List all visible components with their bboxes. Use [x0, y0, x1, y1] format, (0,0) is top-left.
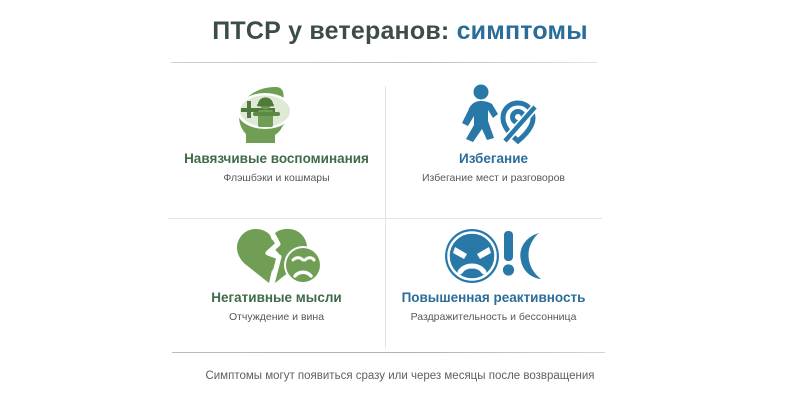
title-accent: симптомы	[457, 17, 588, 45]
quadrant-subtitle: Избегание мест и разговоров	[422, 171, 565, 186]
angry-face-exclamation-moon-icon	[442, 225, 546, 287]
footer-divider	[172, 352, 605, 353]
quadrant-subtitle: Отчуждение и вина	[229, 310, 324, 325]
quadrant-negative-thoughts[interactable]: Негативные мысли Отчуждение и вина	[168, 219, 385, 355]
symptom-grid: Навязчивые воспоминания Флэшбэки и кошма…	[168, 76, 602, 348]
title-divider	[171, 62, 597, 63]
page-title: ПТСР у ветеранов: симптомы	[0, 16, 800, 46]
slide-root: ПТСР у ветеранов: симптомы	[0, 0, 800, 400]
walking-person-no-location-icon	[446, 80, 542, 148]
quadrant-title: Повышенная реактивность	[402, 289, 586, 306]
quadrant-title: Навязчивые воспоминания	[184, 150, 369, 167]
quadrant-subtitle: Флэшбэки и кошмары	[223, 171, 329, 186]
title-main: ПТСР у ветеранов:	[212, 17, 449, 45]
footer-note: Симптомы могут появиться сразу или через…	[0, 368, 800, 384]
title-line: ПТСР у ветеранов: симптомы	[0, 16, 800, 46]
quadrant-intrusive-memories[interactable]: Навязчивые воспоминания Флэшбэки и кошма…	[168, 76, 385, 212]
quadrant-subtitle: Раздражительность и бессонница	[411, 310, 577, 325]
quadrant-avoidance[interactable]: Избегание Избегание мест и разговоров	[385, 76, 602, 212]
quadrant-title: Избегание	[459, 150, 528, 167]
head-soldier-memory-icon	[229, 80, 325, 148]
broken-heart-sad-face-icon	[225, 225, 329, 287]
quadrant-hyperarousal[interactable]: Повышенная реактивность Раздражительност…	[385, 219, 602, 355]
quadrant-title: Негативные мысли	[211, 289, 341, 306]
